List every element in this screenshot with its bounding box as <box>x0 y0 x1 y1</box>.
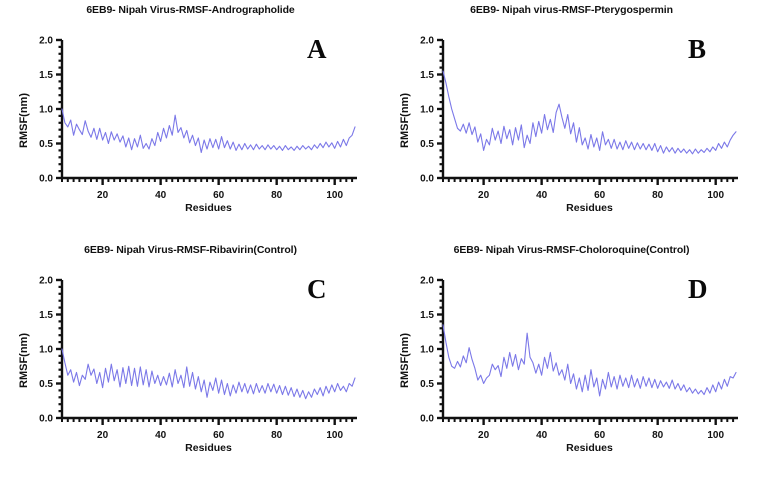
svg-text:1.0: 1.0 <box>39 345 53 356</box>
svg-text:40: 40 <box>155 430 167 441</box>
svg-text:1.5: 1.5 <box>420 70 434 81</box>
panel-b: 6EB9- Nipah virus-RMSF-Pterygospermin B … <box>381 0 762 240</box>
svg-text:80: 80 <box>652 190 664 201</box>
svg-text:60: 60 <box>213 430 225 441</box>
svg-text:2.0: 2.0 <box>39 276 53 287</box>
svg-text:2.0: 2.0 <box>39 36 53 47</box>
svg-text:100: 100 <box>707 430 724 441</box>
svg-text:20: 20 <box>97 430 109 441</box>
svg-text:40: 40 <box>536 190 548 201</box>
panel-d: 6EB9- Nipah Virus-RMSF-Choloroquine(Cont… <box>381 240 762 480</box>
svg-text:0.5: 0.5 <box>39 379 53 390</box>
svg-text:0.5: 0.5 <box>39 139 53 150</box>
svg-text:0.5: 0.5 <box>420 139 434 150</box>
svg-text:1.5: 1.5 <box>420 310 434 321</box>
panel-b-plot: 0.00.51.01.52.020406080100 <box>381 0 762 240</box>
svg-text:40: 40 <box>155 190 167 201</box>
svg-text:1.5: 1.5 <box>39 310 53 321</box>
svg-text:20: 20 <box>478 190 490 201</box>
svg-text:40: 40 <box>536 430 548 441</box>
rmsf-figure: 6EB9- Nipah Virus-RMSF-Andrographolide A… <box>0 0 762 480</box>
svg-text:100: 100 <box>707 190 724 201</box>
panel-a-plot: 0.00.51.01.52.020406080100 <box>0 0 381 240</box>
svg-text:0.0: 0.0 <box>420 414 434 425</box>
panel-d-plot: 0.00.51.01.52.020406080100 <box>381 240 762 480</box>
svg-text:2.0: 2.0 <box>420 36 434 47</box>
svg-text:20: 20 <box>97 190 109 201</box>
svg-text:80: 80 <box>271 190 283 201</box>
svg-text:60: 60 <box>594 430 606 441</box>
svg-text:0.0: 0.0 <box>39 414 53 425</box>
svg-text:1.0: 1.0 <box>420 345 434 356</box>
svg-text:80: 80 <box>652 430 664 441</box>
svg-text:100: 100 <box>326 190 343 201</box>
svg-text:2.0: 2.0 <box>420 276 434 287</box>
panel-c: 6EB9- Nipah Virus-RMSF-Ribavirin(Control… <box>0 240 381 480</box>
svg-text:0.5: 0.5 <box>420 379 434 390</box>
svg-text:1.0: 1.0 <box>420 105 434 116</box>
svg-text:100: 100 <box>326 430 343 441</box>
svg-text:1.0: 1.0 <box>39 105 53 116</box>
panel-c-plot: 0.00.51.01.52.020406080100 <box>0 240 381 480</box>
svg-text:1.5: 1.5 <box>39 70 53 81</box>
svg-text:60: 60 <box>594 190 606 201</box>
svg-text:0.0: 0.0 <box>39 174 53 185</box>
svg-text:60: 60 <box>213 190 225 201</box>
svg-text:80: 80 <box>271 430 283 441</box>
svg-text:0.0: 0.0 <box>420 174 434 185</box>
svg-text:20: 20 <box>478 430 490 441</box>
panel-a: 6EB9- Nipah Virus-RMSF-Andrographolide A… <box>0 0 381 240</box>
